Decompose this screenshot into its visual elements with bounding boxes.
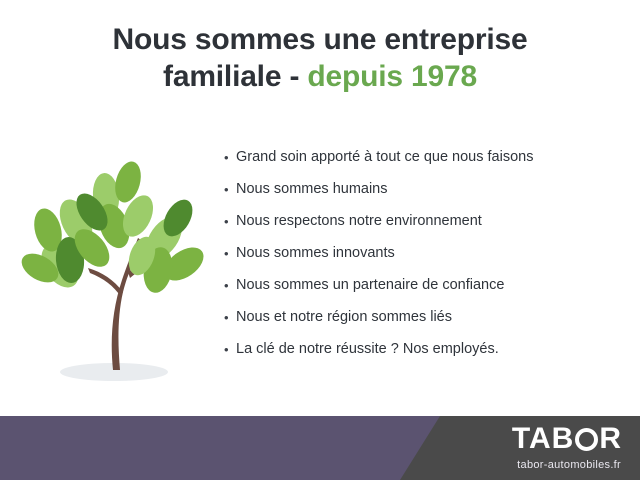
list-item-label: Nous sommes innovants xyxy=(236,244,395,263)
tree-illustration xyxy=(18,160,218,390)
title-line-2: familiale - depuis 1978 xyxy=(0,59,640,96)
footer-bar-left xyxy=(0,416,462,480)
brand-url: tabor-automobiles.fr xyxy=(517,460,621,471)
footer-bar: TABR tabor-automobiles.fr xyxy=(0,416,640,480)
list-item: • La clé de notre réussite ? Nos employé… xyxy=(224,340,624,359)
brand-text-part2: R xyxy=(599,422,622,455)
list-item-label: Nous et notre région sommes liés xyxy=(236,308,452,327)
title-line-1: Nous sommes une entreprise xyxy=(0,22,640,59)
list-item-label: La clé de notre réussite ? Nos employés. xyxy=(236,340,499,359)
list-item-label: Nous sommes un partenaire de confiance xyxy=(236,276,504,295)
list-item: • Nous respectons notre environnement xyxy=(224,212,624,231)
list-item: • Nous et notre région sommes liés xyxy=(224,308,624,327)
brand-logo: TABR xyxy=(512,424,622,454)
list-item-label: Grand soin apporté à tout ce que nous fa… xyxy=(236,148,533,167)
bullet-dot-icon: • xyxy=(224,148,236,167)
brand-text-part1: TAB xyxy=(512,422,574,455)
bullet-dot-icon: • xyxy=(224,244,236,263)
bullet-dot-icon: • xyxy=(224,276,236,295)
list-item: • Nous sommes humains xyxy=(224,180,624,199)
brand-o-ring-icon xyxy=(575,428,598,451)
slide-canvas: Nous sommes une entreprise familiale - d… xyxy=(0,0,640,480)
bullet-dot-icon: • xyxy=(224,180,236,199)
tree-icon xyxy=(18,160,218,390)
bullet-dot-icon: • xyxy=(224,308,236,327)
page-title: Nous sommes une entreprise familiale - d… xyxy=(0,22,640,95)
bullet-dot-icon: • xyxy=(224,212,236,231)
list-item-label: Nous sommes humains xyxy=(236,180,388,199)
title-accent-year: depuis 1978 xyxy=(307,60,477,93)
bullet-list: • Grand soin apporté à tout ce que nous … xyxy=(224,148,624,372)
list-item: • Grand soin apporté à tout ce que nous … xyxy=(224,148,624,167)
list-item: • Nous sommes innovants xyxy=(224,244,624,263)
title-line-2-main: familiale - xyxy=(163,60,299,93)
list-item: • Nous sommes un partenaire de confiance xyxy=(224,276,624,295)
list-item-label: Nous respectons notre environnement xyxy=(236,212,482,231)
bullet-dot-icon: • xyxy=(224,340,236,359)
